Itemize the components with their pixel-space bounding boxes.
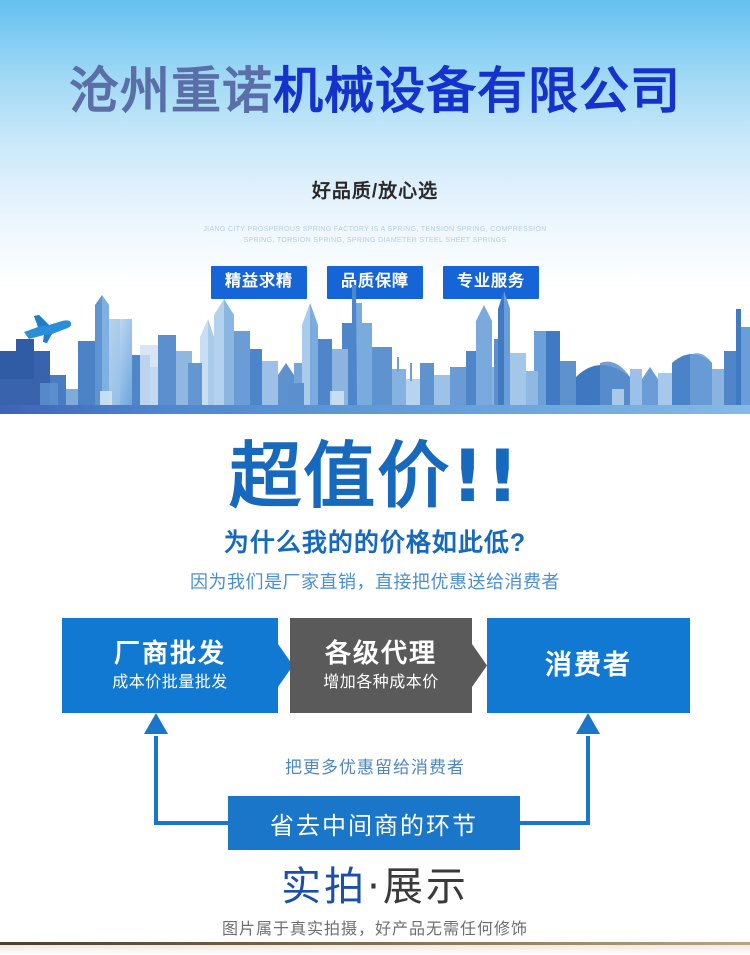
hero-english-line-1: JIANG CITY PROSPEROUS SPRING FACTORY IS …: [0, 224, 750, 235]
promo-page: 沧州重诺机械设备有限公司 好品质/放心选 JIANG CITY PROSPERO…: [0, 0, 750, 955]
flow-box-consumer: 消费者: [487, 618, 690, 713]
flow-box-agents-sub: 增加各种成本价: [323, 672, 439, 694]
flow-box-manufacturer: 厂商批发 成本价批量批发: [62, 618, 278, 713]
price-answer: 因为我们是厂家直销，直接把优惠送给消费者: [0, 569, 750, 595]
flow-box-agents-title: 各级代理: [325, 638, 437, 669]
company-title-suffix: 机械设备有限公司: [273, 62, 681, 120]
flow-box-manufacturer-sub: 成本价批量批发: [112, 672, 228, 694]
real-shot-subtitle: 图片属于真实拍摄，好产品无需任何修饰: [0, 918, 750, 942]
flow-box-manufacturer-title: 厂商批发: [114, 638, 226, 669]
hero-subtitle: 好品质/放心选: [0, 179, 750, 205]
flow-loop-label: 把更多优惠留给消费者: [0, 756, 750, 780]
supply-chain-flow: 厂商批发 成本价批量批发 各级代理 增加各种成本价 消费者: [0, 618, 750, 848]
company-title-prefix: 沧州重诺: [69, 62, 273, 120]
skyline-ground-strip: [0, 405, 750, 414]
city-skyline-icon: [0, 279, 750, 414]
flow-box-consumer-title: 消费者: [545, 650, 632, 681]
company-title: 沧州重诺机械设备有限公司: [0, 62, 750, 120]
real-shot-title-blue: 实拍: [281, 864, 367, 910]
real-shot-title-dark: ·展示: [367, 864, 469, 910]
price-question: 为什么我的的价格如此低?: [0, 527, 750, 559]
footer-strip: [0, 945, 750, 955]
flow-loop-box: 省去中间商的环节: [228, 796, 520, 850]
price-headline: 超值价!!: [0, 436, 750, 516]
real-shot-title: 实拍·展示: [0, 862, 750, 912]
airplane-icon: [18, 310, 74, 344]
flow-box-agents: 各级代理 增加各种成本价: [290, 618, 472, 713]
hero-english-tagline: JIANG CITY PROSPEROUS SPRING FACTORY IS …: [0, 224, 750, 246]
price-section: 超值价!! 为什么我的的价格如此低? 因为我们是厂家直销，直接把优惠送给消费者 …: [0, 414, 750, 884]
hero-english-line-2: SPRING, TORSION SPRING, SPRING DIAMETER …: [0, 235, 750, 246]
hero-banner: 沧州重诺机械设备有限公司 好品质/放心选 JIANG CITY PROSPERO…: [0, 0, 750, 414]
